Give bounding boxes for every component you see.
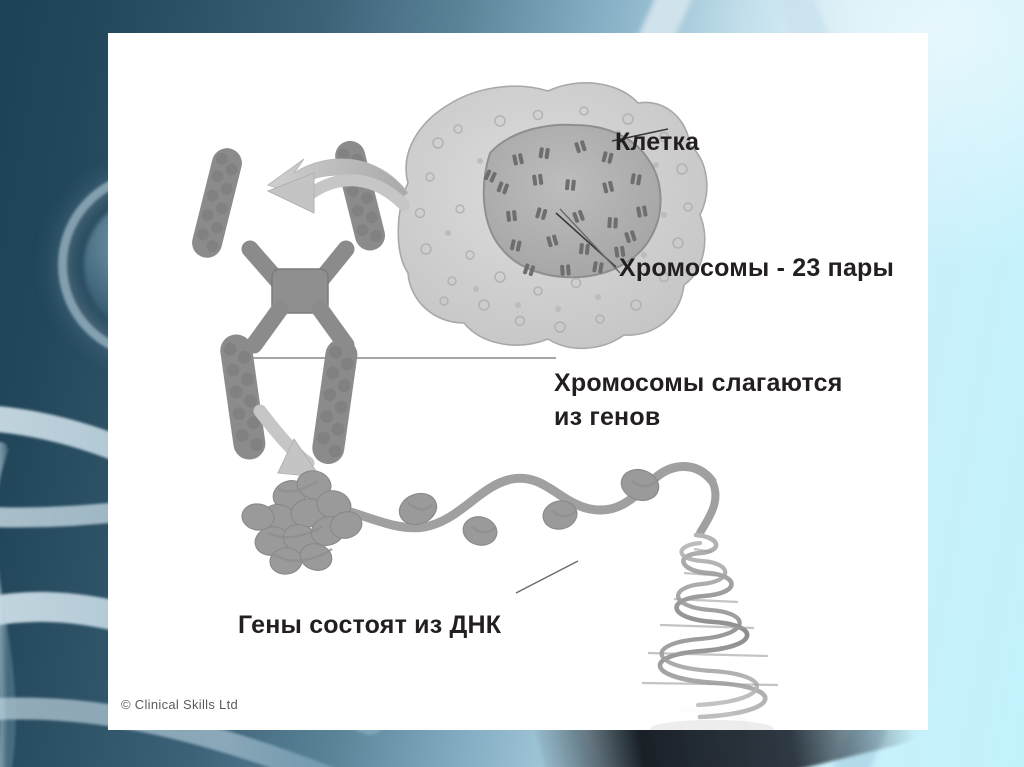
leader-line-dna (516, 561, 578, 593)
label-genes-line2: из генов (554, 403, 660, 431)
label-genes-made-of-dna: Гены состоят из ДНК (238, 611, 501, 640)
copyright-notice: © Clinical Skills Ltd (121, 697, 238, 712)
diagram-panel: Клетка Хромосомы - 23 пары Хромосомы сла… (108, 33, 928, 730)
arrow-cell-to-chromosome (268, 159, 408, 213)
slide-canvas: Клетка Хромосомы - 23 пары Хромосомы сла… (0, 0, 1024, 767)
arrow-chromosome-to-chain (260, 411, 320, 477)
label-chromosomes-23-pairs: Хромосомы - 23 пары (619, 254, 894, 283)
dna-double-helix (642, 481, 778, 730)
label-chromosomes-made-of-genes: Хромосомы слагаются из генов (554, 366, 904, 434)
label-cell: Клетка (615, 128, 699, 157)
nucleosome-chain (240, 465, 712, 576)
label-genes-line1: Хромосомы слагаются (554, 369, 843, 397)
